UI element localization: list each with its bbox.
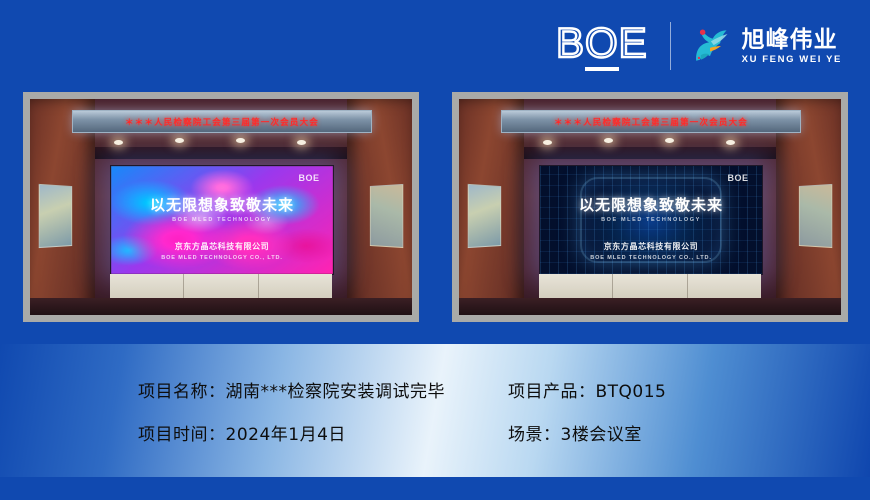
- room-floor: [30, 298, 412, 315]
- ceiling-spotlight: [665, 138, 674, 143]
- ceiling-soffit: [482, 147, 818, 160]
- boe-logo-text: BOE: [556, 22, 648, 64]
- ceiling-spotlight: [175, 138, 184, 143]
- ceiling-spotlight: [604, 138, 613, 143]
- project-product-line: 项目产品：BTQ015: [508, 377, 666, 402]
- header-logo-group: BOE 旭峰伟业 XU FENG WEI YE: [556, 18, 842, 74]
- wall-artwork-left: [38, 184, 72, 249]
- photo-left-inner: ＊＊＊人民检察院工会第三届第一次会员大会 BOE 以无限想象致敬未来 BOE M…: [30, 99, 412, 315]
- screen-company-chinese: 京东方晶芯科技有限公司: [111, 241, 333, 252]
- photo-right-inner: ＊＊＊人民检察院工会第三届第一次会员大会 BOE 以无限想象致敬未来 BOE M…: [459, 99, 841, 315]
- project-name-line: 项目名称：湖南***检察院安装调试完毕: [138, 377, 508, 402]
- led-banner: ＊＊＊人民检察院工会第三届第一次会员大会: [501, 110, 801, 134]
- boe-logo: BOE: [556, 22, 670, 71]
- photo-installation-blue: ＊＊＊人民检察院工会第三届第一次会员大会 BOE 以无限想象致敬未来 BOE M…: [452, 92, 848, 322]
- xufengweiye-text: 旭峰伟业 XU FENG WEI YE: [742, 27, 842, 65]
- screen-slogan-english: BOE MLED TECHNOLOGY: [540, 217, 762, 223]
- photo-installation-pink: ＊＊＊人民检察院工会第三届第一次会员大会 BOE 以无限想象致敬未来 BOE M…: [23, 92, 419, 322]
- screen-slogan: 以无限想象致敬未来: [111, 194, 333, 215]
- wall-artwork-right: [799, 184, 833, 249]
- led-display-screen: BOE 以无限想象致敬未来 BOE MLED TECHNOLOGY 京东方晶芯科…: [110, 165, 334, 275]
- screen-company-english: BOE MLED TECHNOLOGY CO., LTD.: [540, 255, 762, 261]
- wall-artwork-left: [467, 184, 501, 249]
- project-time-line: 项目时间：2024年1月4日: [138, 420, 508, 445]
- project-info-column-right: 项目产品：BTQ015 场景：3楼会议室: [508, 377, 666, 445]
- led-banner-text: ＊＊＊人民检察院工会第三届第一次会员大会: [554, 116, 748, 128]
- screen-slogan: 以无限想象致敬未来: [540, 194, 762, 215]
- logo-divider: [670, 22, 671, 70]
- led-banner: ＊＊＊人民检察院工会第三届第一次会员大会: [72, 110, 372, 134]
- wall-artwork-right: [370, 184, 404, 249]
- project-info-panel: 项目名称：湖南***检察院安装调试完毕 项目时间：2024年1月4日 项目产品：…: [0, 344, 870, 477]
- screen-boe-logo: BOE: [727, 173, 748, 183]
- xufengweiye-english: XU FENG WEI YE: [742, 54, 842, 65]
- project-scene-line: 场景：3楼会议室: [508, 420, 666, 445]
- screen-company-english: BOE MLED TECHNOLOGY CO., LTD.: [111, 255, 333, 261]
- xufengweiye-chinese: 旭峰伟业: [742, 27, 842, 51]
- led-display-screen: BOE 以无限想象致敬未来 BOE MLED TECHNOLOGY 京东方晶芯科…: [539, 165, 763, 275]
- poster-page: BOE 旭峰伟业 XU FENG WEI YE: [0, 0, 870, 500]
- ceiling-soffit: [53, 147, 389, 160]
- screen-company-chinese: 京东方晶芯科技有限公司: [540, 241, 762, 252]
- screen-slogan-english: BOE MLED TECHNOLOGY: [111, 217, 333, 223]
- room-floor: [459, 298, 841, 315]
- xufengweiye-logo: 旭峰伟业 XU FENG WEI YE: [687, 23, 842, 69]
- screen-boe-logo: BOE: [298, 173, 319, 183]
- project-info-column-left: 项目名称：湖南***检察院安装调试完毕 项目时间：2024年1月4日: [138, 377, 508, 445]
- boe-logo-underline: [585, 67, 619, 71]
- xufengweiye-bird-icon: [687, 23, 733, 69]
- ceiling-spotlight: [236, 138, 245, 143]
- led-banner-text: ＊＊＊人民检察院工会第三届第一次会员大会: [125, 116, 319, 128]
